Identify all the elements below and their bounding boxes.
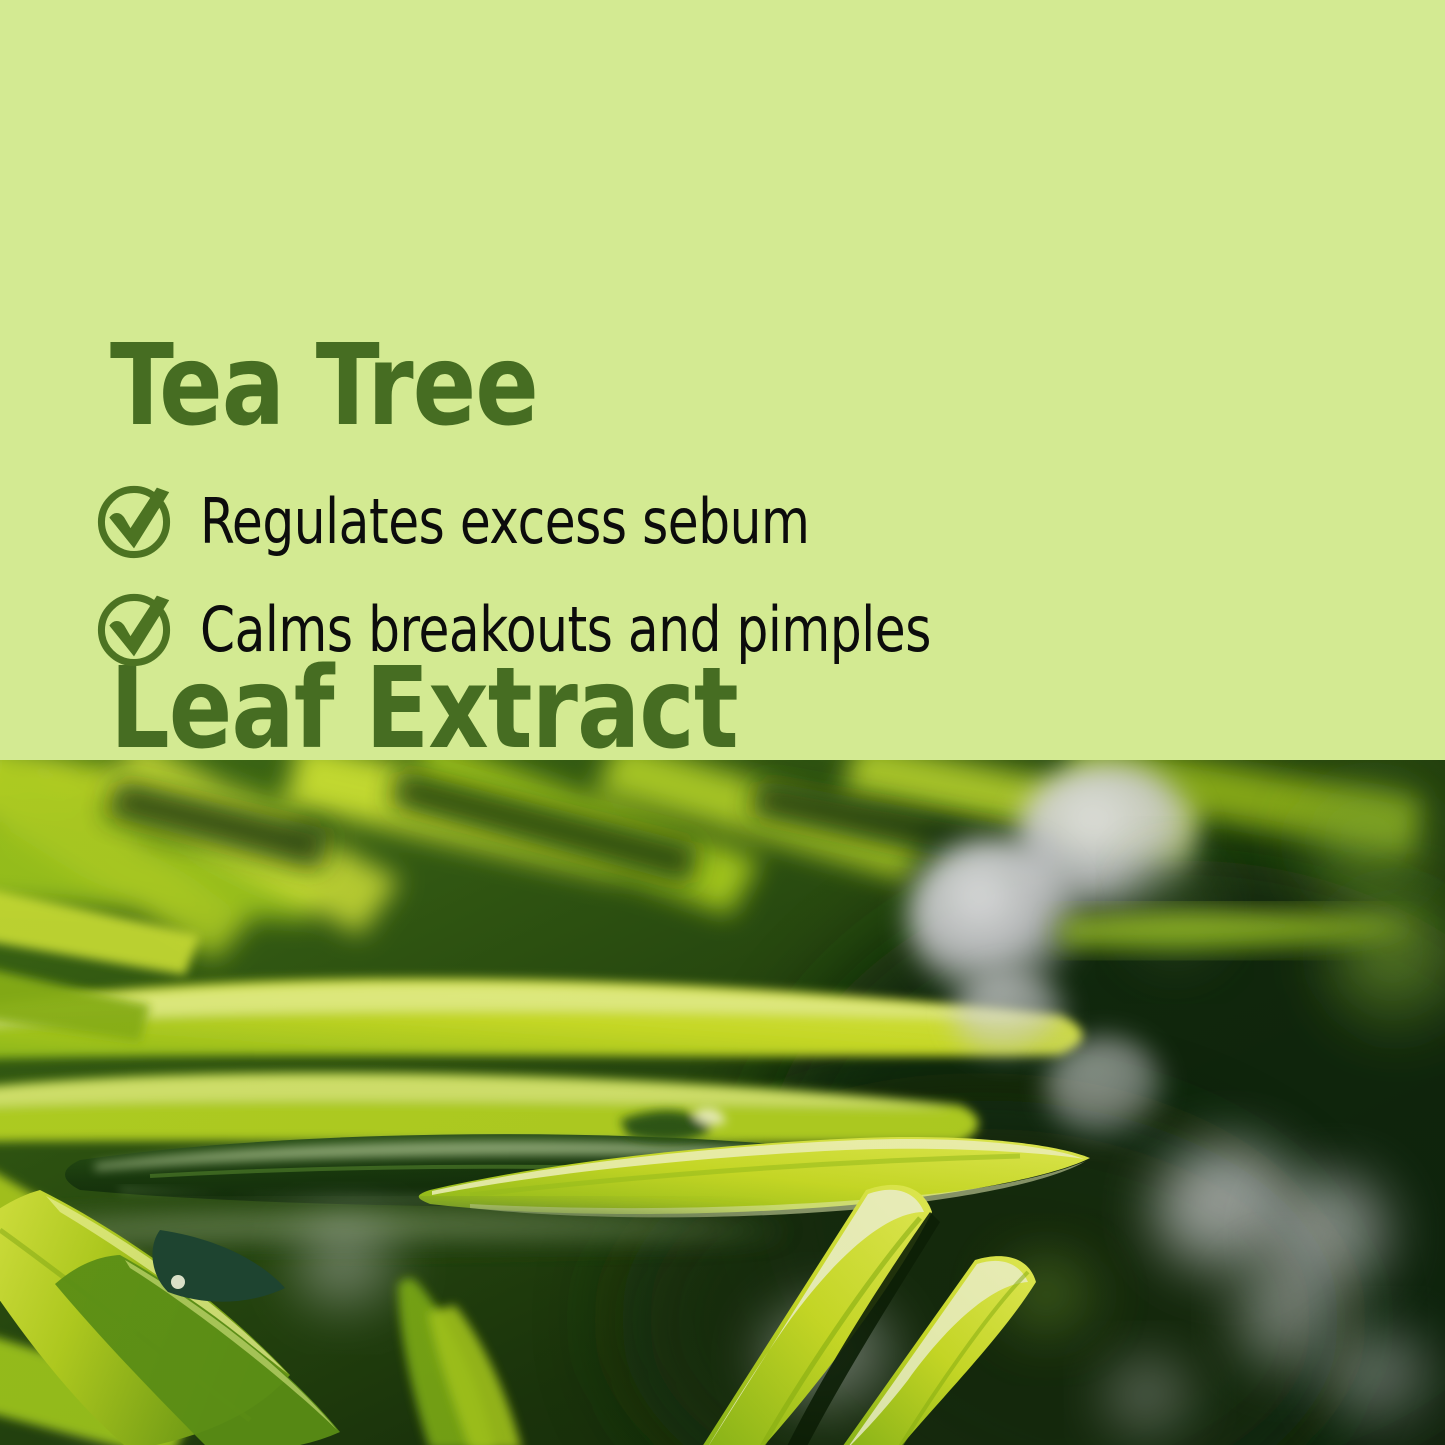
- tea-tree-photo-illustration: [0, 760, 1445, 1445]
- title-line-1: Tea Tree: [110, 333, 738, 441]
- list-item: Calms breakouts and pimples: [90, 576, 1390, 684]
- list-item: Regulates excess sebum: [90, 468, 1390, 576]
- benefit-label: Regulates excess sebum: [200, 491, 809, 553]
- tea-tree-photo: [0, 760, 1445, 1445]
- check-circle-icon: [90, 586, 178, 674]
- ingredient-info-card: Tea Tree Leaf Extract Regulates excess s…: [0, 0, 1445, 1445]
- benefit-label: Calms breakouts and pimples: [200, 599, 931, 661]
- green-info-panel: Tea Tree Leaf Extract Regulates excess s…: [0, 0, 1445, 760]
- benefit-list: Regulates excess sebum Calms breakouts a…: [90, 468, 1390, 684]
- check-circle-icon: [90, 478, 178, 566]
